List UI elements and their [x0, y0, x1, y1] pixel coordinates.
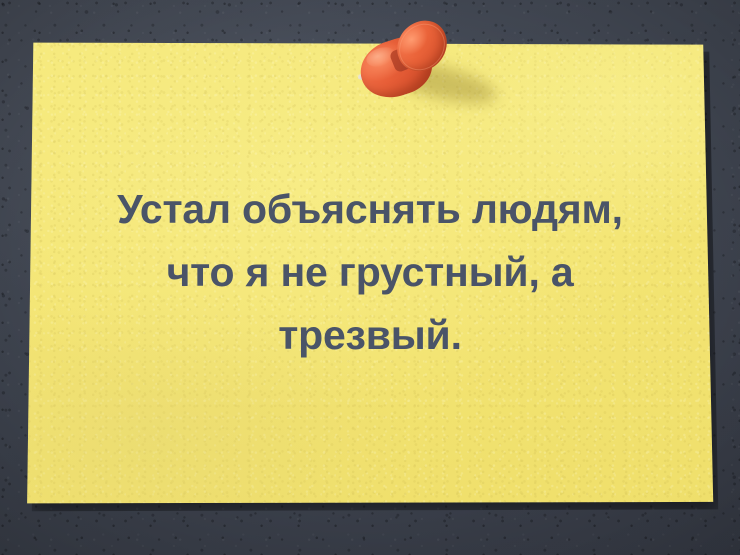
quote-line-3: трезвый. [44, 304, 696, 367]
quote-line-2: что я не грустный, а [44, 241, 696, 304]
pushpin-icon [352, 18, 448, 102]
quote-line-1: Устал объяснять людям, [44, 178, 696, 241]
quote-card-scene: Устал объяснять людям, что я не грустный… [0, 0, 740, 555]
quote-text-block: Устал объяснять людям, что я не грустный… [44, 178, 696, 367]
